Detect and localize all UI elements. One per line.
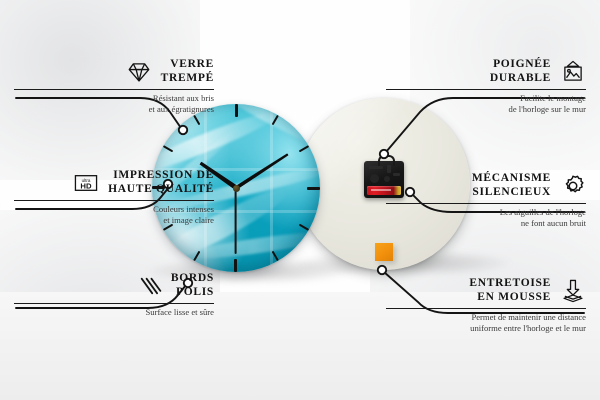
gear-icon (560, 173, 586, 199)
callout-header: VERRE TREMPÉ (14, 58, 214, 85)
hands-center-cap (233, 185, 240, 192)
second-hand (235, 188, 237, 254)
clock-tick (236, 187, 320, 189)
callout-bords-polis[interactable]: BORDS POLIS Surface lisse et sûre (14, 272, 214, 318)
callout-mecanisme-silencieux[interactable]: MÉCANISME SILENCIEUX Les aiguilles de l'… (386, 172, 586, 229)
hanger-loop-icon (378, 155, 395, 166)
callout-verre-trempe[interactable]: VERRE TREMPÉ Résistant aux bris et aux é… (14, 58, 214, 115)
callout-title: VERRE TREMPÉ (161, 58, 214, 85)
callout-title: BORDS POLIS (171, 272, 214, 299)
product-infographic: VERRE TREMPÉ Résistant aux bris et aux é… (0, 0, 600, 400)
foam-spacer (375, 243, 393, 261)
callout-subtitle: Permet de maintenir une distance uniform… (386, 312, 586, 333)
callout-header: ENTRETOISE EN MOUSSE (386, 277, 586, 304)
callout-title: POIGNÉE DURABLE (490, 58, 551, 85)
ultra-hd-icon: ultra HD (73, 170, 99, 196)
callout-header: POIGNÉE DURABLE (386, 58, 586, 85)
callout-subtitle: Résistant aux bris et aux égratignures (14, 93, 214, 114)
callout-title: ENTRETOISE EN MOUSSE (469, 277, 551, 304)
callout-poignee-durable[interactable]: POIGNÉE DURABLE Facilite le montage de l… (386, 58, 586, 115)
callout-subtitle: Facilite le montage de l'horloge sur le … (386, 93, 586, 114)
callout-rule (14, 200, 214, 201)
callout-rule (14, 89, 214, 90)
callout-title: MÉCANISME SILENCIEUX (472, 172, 551, 199)
callout-rule (386, 308, 586, 309)
callout-header: ultra HD IMPRESSION DE HAUTE QUALITÉ (14, 169, 214, 196)
callout-title: IMPRESSION DE HAUTE QUALITÉ (108, 169, 214, 196)
polished-edges-icon (136, 273, 162, 299)
callout-header: BORDS POLIS (14, 272, 214, 299)
ultra-hd-bottom-label: HD (81, 181, 93, 190)
callout-rule (386, 203, 586, 204)
callout-entretoise-en-mousse[interactable]: ENTRETOISE EN MOUSSE Permet de maintenir… (386, 277, 586, 334)
callout-impression-haute-qualite[interactable]: ultra HD IMPRESSION DE HAUTE QUALITÉ Cou… (14, 169, 214, 226)
callout-rule (386, 89, 586, 90)
arrow-down-spacer-icon (560, 278, 586, 304)
callout-subtitle: Surface lisse et sûre (14, 307, 214, 318)
diamond-icon (126, 59, 152, 85)
callout-rule (14, 303, 214, 304)
callout-subtitle: Couleurs intenses et image claire (14, 204, 214, 225)
callout-subtitle: Les aiguilles de l'horloge ne font aucun… (386, 207, 586, 228)
clock-tick (235, 104, 237, 188)
mechanism-bar-a (369, 166, 383, 169)
mechanism-dial-left (370, 174, 379, 183)
callout-header: MÉCANISME SILENCIEUX (386, 172, 586, 199)
hanging-frame-icon (560, 59, 586, 85)
